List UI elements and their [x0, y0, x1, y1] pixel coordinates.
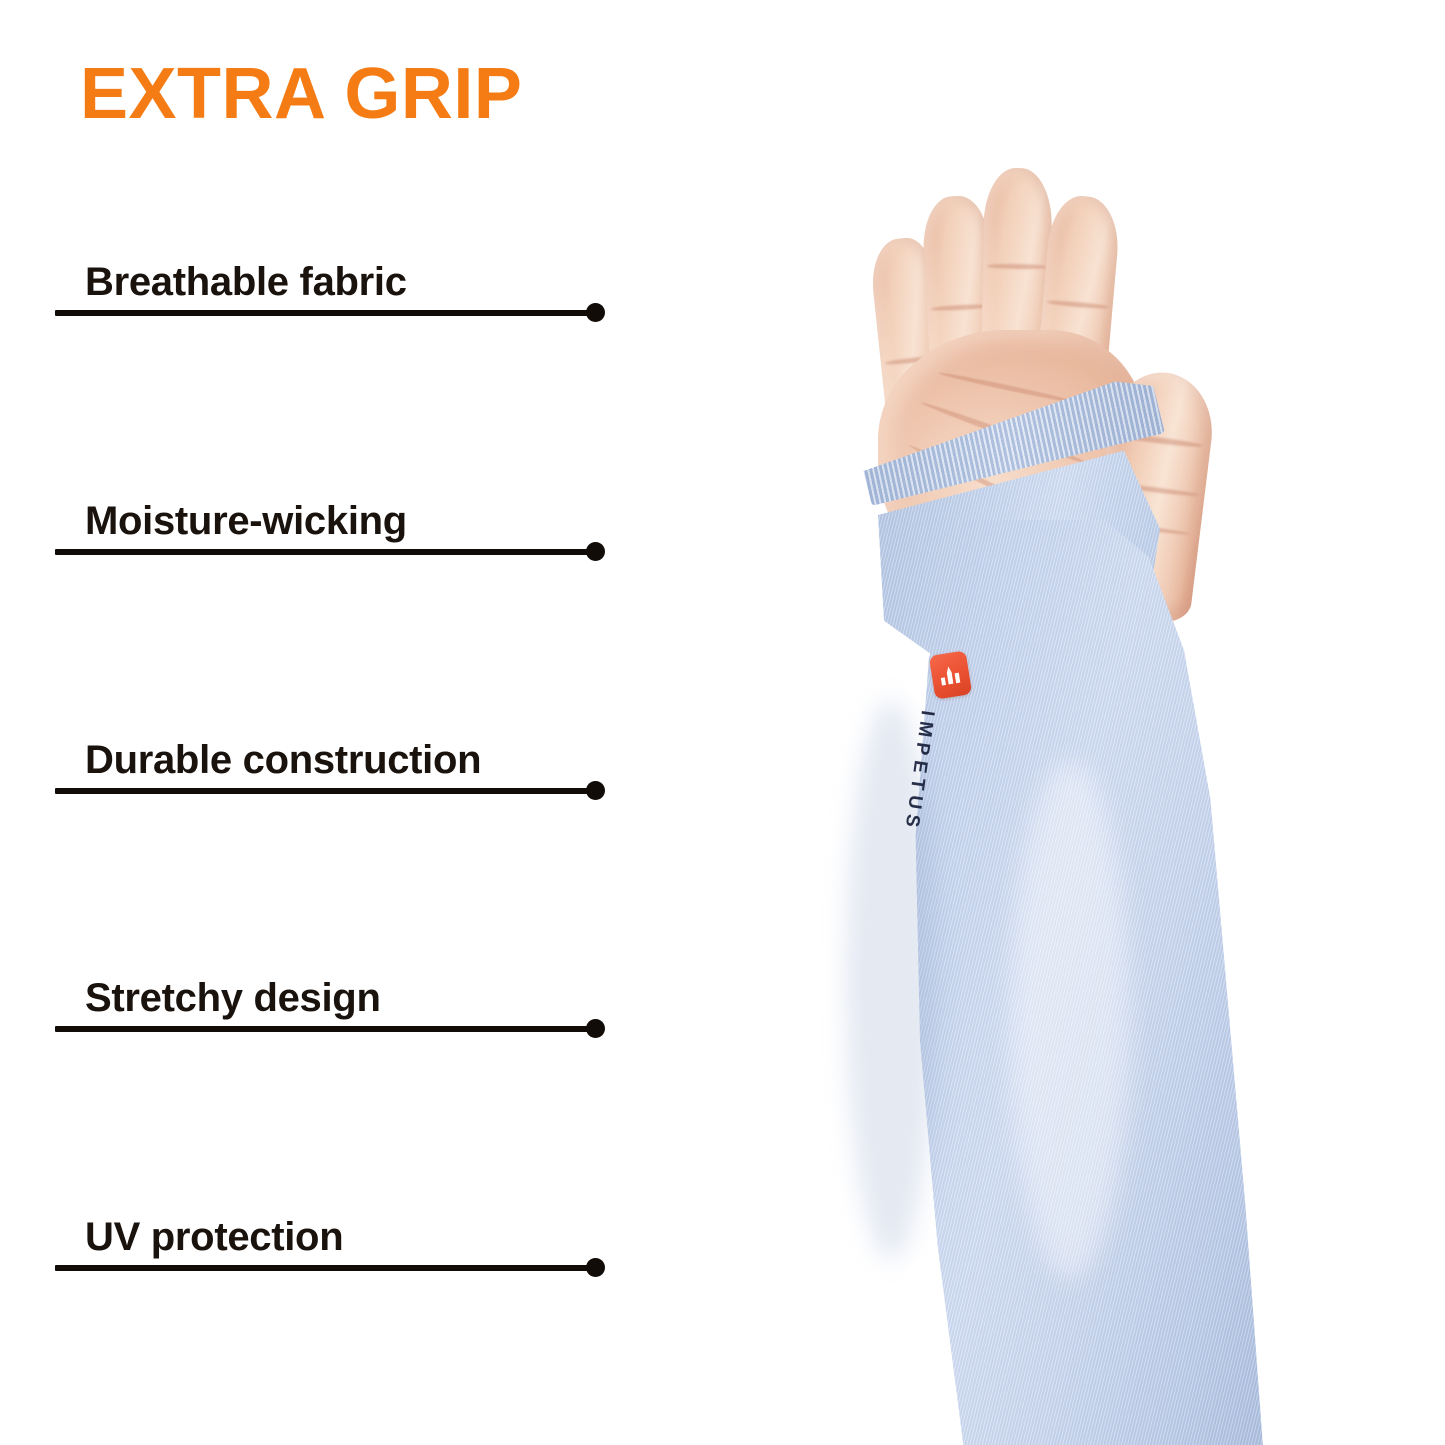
feature-label: Stretchy design	[85, 978, 381, 1018]
feature-item-durable-construction: Durable construction	[55, 726, 665, 806]
feature-end-dot	[586, 303, 605, 322]
fabric-weave-texture	[832, 520, 1272, 1445]
feature-label: Durable construction	[85, 740, 481, 780]
feature-rule	[55, 1265, 597, 1271]
feature-rule	[55, 310, 597, 316]
brand-logo-tile	[929, 650, 972, 699]
sleeve-forearm	[832, 520, 1272, 1445]
infographic-canvas: EXTRA GRIP Breathable fabric Moisture-wi…	[0, 0, 1445, 1445]
feature-item-breathable-fabric: Breathable fabric	[55, 248, 665, 328]
bar-chart-logo-icon	[939, 663, 963, 686]
knuckle-crease	[1047, 299, 1109, 309]
feature-rule	[55, 1026, 597, 1032]
palm-crease	[938, 371, 1075, 405]
feature-end-dot	[586, 542, 605, 561]
feature-item-moisture-wicking: Moisture-wicking	[55, 487, 665, 567]
feature-rule	[55, 788, 597, 794]
feature-item-stretchy-design: Stretchy design	[55, 964, 665, 1044]
feature-label: Moisture-wicking	[85, 501, 407, 541]
feature-end-dot	[586, 1019, 605, 1038]
product-photo: IMPETUS	[760, 0, 1445, 1445]
feature-item-uv-protection: UV protection	[55, 1203, 665, 1283]
feature-label: Breathable fabric	[85, 262, 407, 302]
feature-end-dot	[586, 1258, 605, 1277]
knuckle-crease	[931, 303, 989, 311]
knuckle-crease	[987, 263, 1047, 269]
page-title: EXTRA GRIP	[80, 58, 522, 130]
feature-label: UV protection	[85, 1217, 343, 1257]
feature-rule	[55, 549, 597, 555]
feature-end-dot	[586, 781, 605, 800]
